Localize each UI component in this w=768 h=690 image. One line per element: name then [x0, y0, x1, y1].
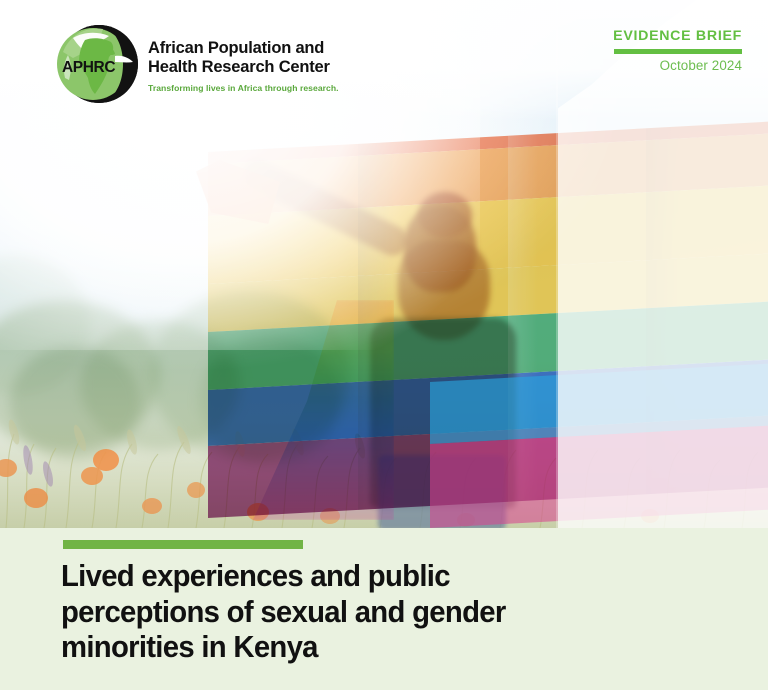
page-title: Lived experiences and public perceptions… [61, 558, 666, 665]
fabric-fold [358, 142, 394, 510]
evidence-brief-meta: EVIDENCE BRIEF October 2024 [613, 28, 742, 73]
title-band: Lived experiences and public perceptions… [0, 528, 768, 690]
organization-name: African Population and Health Research C… [148, 39, 339, 77]
evidence-brief-accent-rule [614, 49, 742, 54]
aphrc-globe-africa-logo-icon: APHRC [57, 22, 141, 106]
evidence-brief-date: October 2024 [613, 58, 742, 73]
logo-wordmark: African Population and Health Research C… [148, 36, 339, 93]
flag-stripe-pink [430, 426, 768, 528]
page-header: APHRC African Population and Health Rese… [0, 0, 768, 120]
evidence-brief-label: EVIDENCE BRIEF [613, 28, 742, 44]
brief-cover-page: APHRC African Population and Health Rese… [0, 0, 768, 690]
svg-text:APHRC: APHRC [62, 59, 115, 76]
aphrc-logo[interactable]: APHRC African Population and Health Rese… [57, 22, 339, 106]
organization-tagline: Transforming lives in Africa through res… [148, 83, 339, 93]
title-accent-rule [63, 540, 303, 549]
